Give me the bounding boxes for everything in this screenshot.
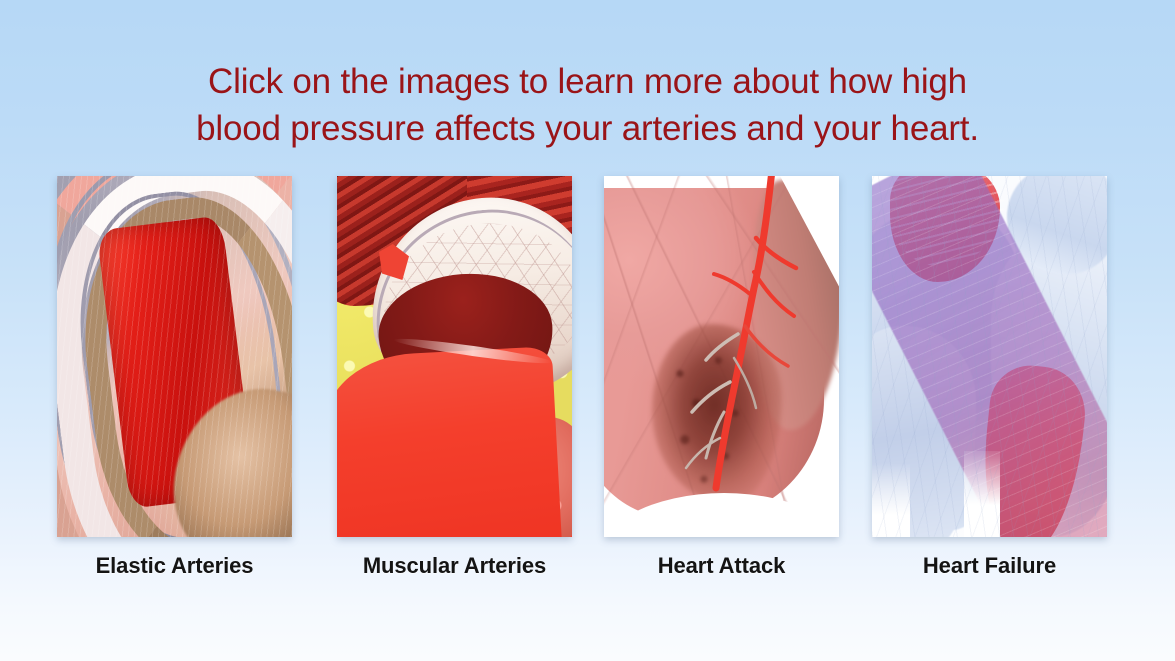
image-card-muscular-arteries[interactable] <box>337 176 572 537</box>
image-card-heart-attack[interactable] <box>604 176 839 537</box>
caption-heart-failure: Heart Failure <box>872 553 1107 579</box>
page-title: Click on the images to learn more about … <box>0 58 1175 152</box>
caption-elastic-arteries: Elastic Arteries <box>57 553 292 579</box>
heart-attack-illustration <box>604 176 839 537</box>
muscular-artery-illustration <box>337 176 572 537</box>
heart-failure-illustration <box>872 176 1107 537</box>
slide-stage: Click on the images to learn more about … <box>0 0 1175 661</box>
elastic-artery-illustration <box>57 176 292 537</box>
image-card-elastic-arteries[interactable] <box>57 176 292 537</box>
caption-heart-attack: Heart Attack <box>604 553 839 579</box>
caption-muscular-arteries: Muscular Arteries <box>337 553 572 579</box>
image-card-heart-failure[interactable] <box>872 176 1107 537</box>
